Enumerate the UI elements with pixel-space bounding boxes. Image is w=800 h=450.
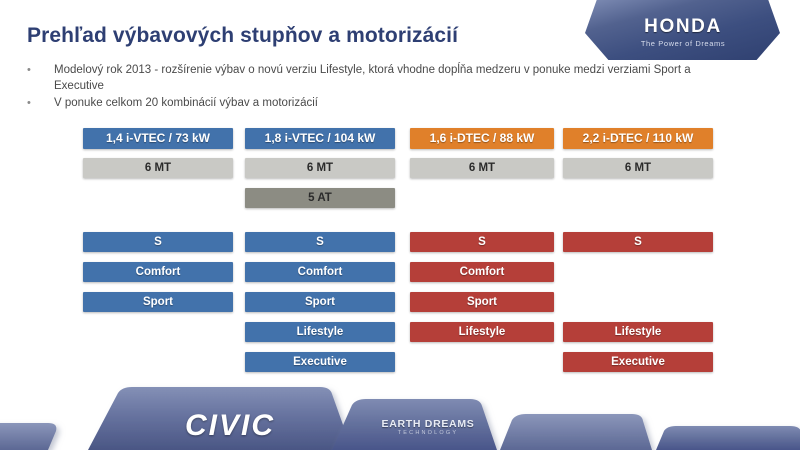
trim-4-executive[interactable]: Executive [563,352,713,372]
bottom-brand-band [0,375,800,450]
engine-header-2[interactable]: 1,8 i-VTEC / 104 kW [245,128,395,149]
trim-2-sport[interactable]: Sport [245,292,395,312]
earth-dreams-sub: TECHNOLOGY [368,430,488,436]
trim-4-lifestyle[interactable]: Lifestyle [563,322,713,342]
trim-2-executive[interactable]: Executive [245,352,395,372]
deco-slab-left [0,423,56,450]
trim-1-sport[interactable]: Sport [83,292,233,312]
trim-3-lifestyle[interactable]: Lifestyle [410,322,554,342]
trim-3-sport[interactable]: Sport [410,292,554,312]
trim-3-s[interactable]: S [410,232,554,252]
trim-2-comfort[interactable]: Comfort [245,262,395,282]
deco-slab-right [656,426,800,450]
trim-1-s[interactable]: S [83,232,233,252]
trim-2-lifestyle[interactable]: Lifestyle [245,322,395,342]
earth-dreams-wordmark: EARTH DREAMS [368,418,488,430]
deco-slab-mid [500,414,652,450]
trim-2-s[interactable]: S [245,232,395,252]
gearbox-2-5-at[interactable]: 5 AT [245,188,395,208]
gearbox-4-6-mt[interactable]: 6 MT [563,158,713,178]
engine-header-4[interactable]: 2,2 i-DTEC / 110 kW [563,128,713,149]
engine-header-3[interactable]: 1,6 i-DTEC / 88 kW [410,128,554,149]
gearbox-2-6-mt[interactable]: 6 MT [245,158,395,178]
trim-4-s[interactable]: S [563,232,713,252]
gearbox-1-6-mt[interactable]: 6 MT [83,158,233,178]
civic-wordmark: CIVIC [135,409,325,443]
trim-1-comfort[interactable]: Comfort [83,262,233,282]
trim-3-comfort[interactable]: Comfort [410,262,554,282]
engine-header-1[interactable]: 1,4 i-VTEC / 73 kW [83,128,233,149]
gearbox-3-6-mt[interactable]: 6 MT [410,158,554,178]
